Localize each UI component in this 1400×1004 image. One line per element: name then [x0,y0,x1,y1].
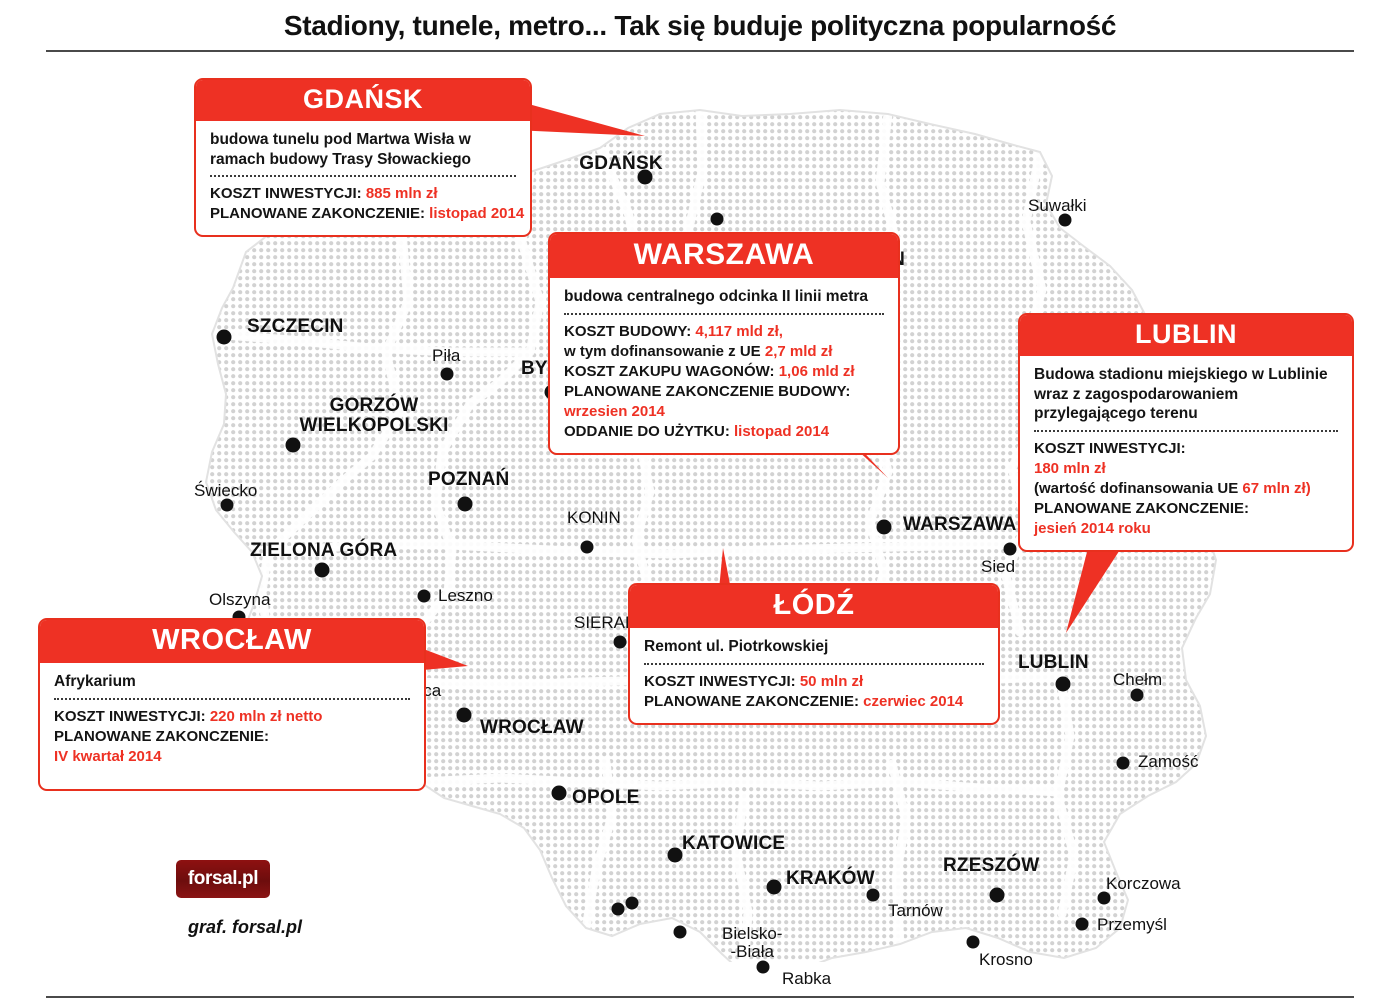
fact-value: 2,7 mld zł [765,343,833,360]
separator [210,175,516,177]
city-dot-gorz-w-wielkopolski [286,438,301,453]
fact-value: listopad 2014 [734,423,829,440]
fact-row: jesień 2014 roku [1034,519,1338,539]
city-dot-krosno [967,936,980,949]
city-dot-cieszyn [612,903,625,916]
city-label-rzesz-w: RZESZÓW [943,855,1039,877]
fact-row: KOSZT INWESTYCJI: 220 mln zł netto [54,707,410,727]
separator [1034,430,1338,432]
fact-value: 1,06 mld zł [779,363,855,380]
fact-row: w tym dofinansowanie z UE 2,7 mld zł [564,342,884,362]
city-label-bydgoszcz: BY [521,358,548,380]
city-label-suwa-ki: Suwałki [1028,196,1087,216]
city-label-olszyna: Olszyna [209,590,270,610]
callout-lodz[interactable]: ŁÓDŹ Remont ul. Piotrkowskiej KOSZT INWE… [628,583,1000,725]
fact-row: IV kwartał 2014 [54,747,410,767]
city-label-przemy-l: Przemyśl [1097,915,1167,935]
city-dot-sieradz [614,636,627,649]
city-dot-wroc-aw [457,708,472,723]
city-label-bielsko-bia-a: Bielsko--Biała [722,925,782,961]
fact-row: KOSZT BUDOWY: 4,117 mld zł, [564,322,884,342]
fact-label: w tym dofinansowanie z UE [564,343,761,360]
page-title: Stadiony, tunele, metro... Tak się buduj… [284,10,1116,42]
fact-value: IV kwartał 2014 [54,748,162,765]
title-bar: Stadiony, tunele, metro... Tak się buduj… [0,0,1400,52]
city-dot-elbl-g [711,213,724,226]
fact-value: 67 mln zł) [1242,480,1310,497]
city-dot-che-m [1131,689,1144,702]
callout-warszawa-body: budowa centralnego odcinka II linii metr… [550,278,898,453]
city-dot-zielona-g-ra [315,563,330,578]
fact-value: 885 mln zł [366,185,438,202]
fact-row: PLANOWANE ZAKONCZENIE BUDOWY: [564,382,884,402]
city-label-krak-w: KRAKÓW [786,868,875,890]
city-dot-pi-a [441,368,454,381]
city-label-korczowa: Korczowa [1106,874,1181,894]
city-label-krosno: Krosno [979,950,1033,970]
callout-wroclaw-body: Afrykarium KOSZT INWESTYCJI: 220 mln zł … [40,663,424,789]
fact-value: listopad 2014 [429,205,524,222]
fact-row: wrzesien 2014 [564,402,884,422]
fact-label: KOSZT ZAKUPU WAGONÓW: [564,363,775,380]
fact-label: PLANOWANE ZAKONCZENIE: [54,728,269,745]
fact-row: (wartość dofinansowania UE 67 mln zł) [1034,479,1338,499]
city-label-opole: OPOLE [572,787,640,809]
callout-gdansk[interactable]: GDAŃSK budowa tunelu pod Martwa Wisła w … [194,78,532,237]
fact-value: 50 mln zł [800,673,863,690]
graphic-credit: graf. forsal.pl [188,917,302,938]
fact-row: PLANOWANE ZAKONCZENIE: [54,727,410,747]
fact-row: KOSZT ZAKUPU WAGONÓW: 1,06 mld zł [564,362,884,382]
callout-wroclaw-description: Afrykarium [54,672,410,692]
fact-label: PLANOWANE ZAKONCZENIE: [1034,500,1249,517]
city-label-siedlce: Sied [981,557,1015,577]
city-dot-konin [581,541,594,554]
fact-row: KOSZT INWESTYCJI: [1034,439,1338,459]
fact-row: 180 mln zł [1034,459,1338,479]
city-dot-opole [552,786,567,801]
fact-row: KOSZT INWESTYCJI: 50 mln zł [644,672,984,692]
city-label-gda-sk: GDAŃSK [579,153,663,175]
infographic-page: Stadiony, tunele, metro... Tak się buduj… [0,0,1400,1004]
fact-row: ODDANIE DO UŻYTKU: listopad 2014 [564,422,884,442]
city-label-zielona-g-ra: ZIELONA GÓRA [250,540,397,562]
city-dot-warszawa [877,520,892,535]
fact-label: (wartość dofinansowania UE [1034,480,1238,497]
callout-lodz-body: Remont ul. Piotrkowskiej KOSZT INWESTYCJ… [630,628,998,723]
city-dot-katowice [668,848,683,863]
fact-value: czerwiec 2014 [863,693,963,710]
city-label-gorz-w-wielkopolski: GORZÓWWIELKOPOLSKI [299,396,448,436]
fact-label: ODDANIE DO UŻYTKU: [564,423,730,440]
callout-warszawa-title: WARSZAWA [550,234,898,278]
city-dot-zamo- [1117,757,1130,770]
city-dot-cz-stochowa [626,897,639,910]
fact-value: 220 mln zł netto [210,708,323,725]
fact-label: PLANOWANE ZAKONCZENIE BUDOWY: [564,383,850,400]
callout-lublin[interactable]: LUBLIN Budowa stadionu miejskiego w Lubl… [1018,313,1354,552]
city-label-pozna-: POZNAŃ [428,469,509,491]
city-dot-rzesz-w [990,888,1005,903]
city-label--wiecko: Świecko [194,481,257,501]
fact-label: KOSZT INWESTYCJI: [644,673,796,690]
forsal-logo-text: forsal.pl [188,868,258,890]
separator [54,698,410,700]
callout-warszawa[interactable]: WARSZAWA budowa centralnego odcinka II l… [548,232,900,455]
city-dot-lublin [1056,677,1071,692]
city-dot-rabka [757,961,770,974]
city-label-konin: KONIN [567,508,621,528]
fact-label: KOSZT BUDOWY: [564,323,691,340]
fact-label: PLANOWANE ZAKONCZENIE: [210,205,425,222]
fact-row: KOSZT INWESTYCJI: 885 mln zł [210,184,516,204]
callout-lublin-body: Budowa stadionu miejskiego w Lublinie wr… [1020,356,1352,550]
fact-label: KOSZT INWESTYCJI: [54,708,206,725]
city-dot-leszno [418,590,431,603]
fact-row: PLANOWANE ZAKONCZENIE: czerwiec 2014 [644,692,984,712]
fact-row: PLANOWANE ZAKONCZENIE: [1034,499,1338,519]
forsal-logo[interactable]: forsal.pl [176,860,270,898]
fact-value: 4,117 mld zł, [695,323,783,340]
callout-warszawa-description: budowa centralnego odcinka II linii metr… [564,287,884,307]
callout-lublin-description: Budowa stadionu miejskiego w Lublinie wr… [1034,365,1338,424]
city-dot-przemy-l [1076,918,1089,931]
separator [644,663,984,665]
callout-lublin-title: LUBLIN [1020,315,1352,356]
city-label-che-m: Chełm [1113,670,1162,690]
callout-gdansk-title: GDAŃSK [196,80,530,121]
fact-value: wrzesien 2014 [564,403,665,420]
city-label-tarn-w: Tarnów [888,901,943,921]
city-dot-pozna- [458,497,473,512]
callout-lodz-title: ŁÓDŹ [630,585,998,628]
fact-label: KOSZT INWESTYCJI: [1034,440,1186,457]
callout-wroclaw[interactable]: WROCŁAW Afrykarium KOSZT INWESTYCJI: 220… [38,618,426,791]
callout-gdansk-body: budowa tunelu pod Martwa Wisła w ramach … [196,121,530,235]
city-label-wroc-aw: WROCŁAW [480,717,584,739]
city-dot-szczecin [217,330,232,345]
fact-value: 180 mln zł [1034,460,1106,477]
city-dot-tarn-w [867,889,880,902]
city-label-lublin: LUBLIN [1018,652,1089,674]
city-dot-bielsko-bia-a [674,926,687,939]
separator [564,313,884,315]
city-dot-siedlce [1004,543,1017,556]
footer-divider [46,996,1354,998]
fact-row: PLANOWANE ZAKONCZENIE: listopad 2014 [210,204,516,224]
city-label-szczecin: SZCZECIN [247,316,344,338]
city-dot-krak-w [767,880,782,895]
city-label-pi-a: Piła [432,346,460,366]
city-label-katowice: KATOWICE [682,833,785,855]
city-label-zamo-: Zamość [1138,752,1198,772]
city-label-warszawa: WARSZAWA [903,514,1017,536]
city-label-leszno: Leszno [438,586,493,606]
fact-label: KOSZT INWESTYCJI: [210,185,362,202]
fact-value: jesień 2014 roku [1034,520,1151,537]
fact-label: PLANOWANE ZAKONCZENIE: [644,693,859,710]
callout-lodz-description: Remont ul. Piotrkowskiej [644,637,984,657]
callout-wroclaw-title: WROCŁAW [40,620,424,663]
city-label-rabka: Rabka [782,969,831,989]
callout-gdansk-description: budowa tunelu pod Martwa Wisła w ramach … [210,130,516,169]
